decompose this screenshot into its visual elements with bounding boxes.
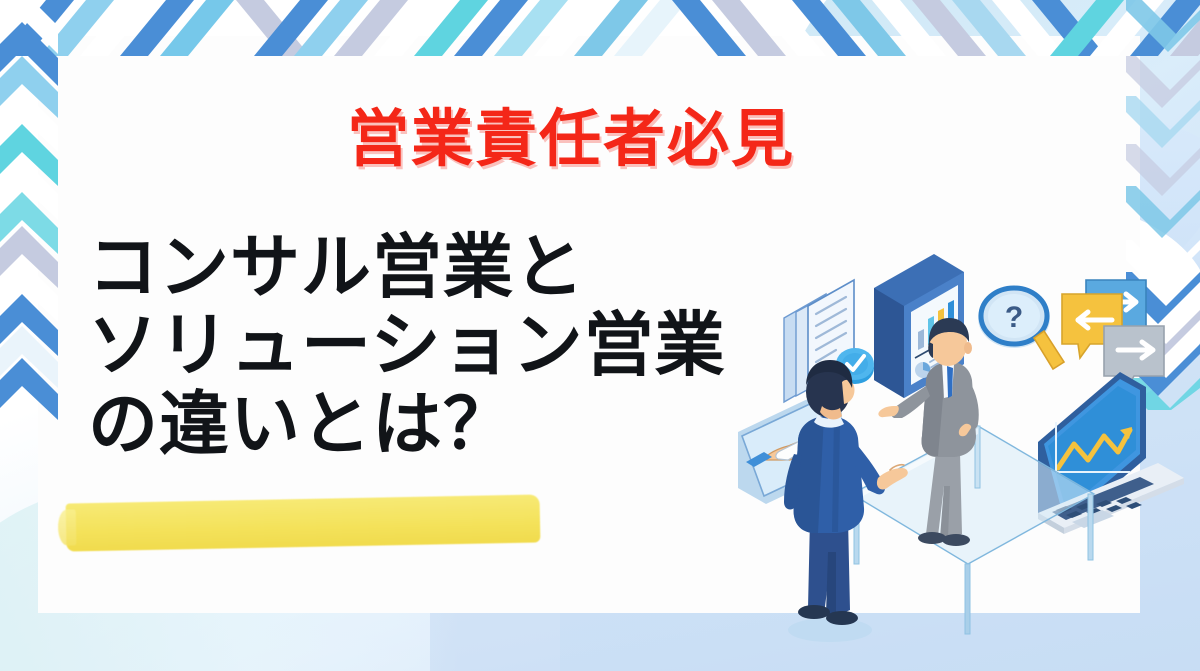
chat-bubbles-icon [1062,280,1164,390]
page-title: コンサル営業と ソリューション営業 の違いとは？ [88,228,828,463]
highlight-marker [66,494,541,551]
magnifier-question-icon: ? [978,288,1064,369]
title-line-2: ソリューション営業 [88,306,828,384]
svg-text:?: ? [1005,301,1023,334]
title-line-3: の違いとは？ [88,385,828,463]
illustration-art: ? [722,246,1200,656]
title-line-1: コンサル営業と [88,228,828,306]
kicker-headline: 営業責任者必見 [347,88,795,178]
isometric-business-meeting-illustration: ? [722,246,1200,656]
eyecatch-image: 営業責任者必見 コンサル営業と ソリューション営業 の違いとは？ [0,0,1200,671]
